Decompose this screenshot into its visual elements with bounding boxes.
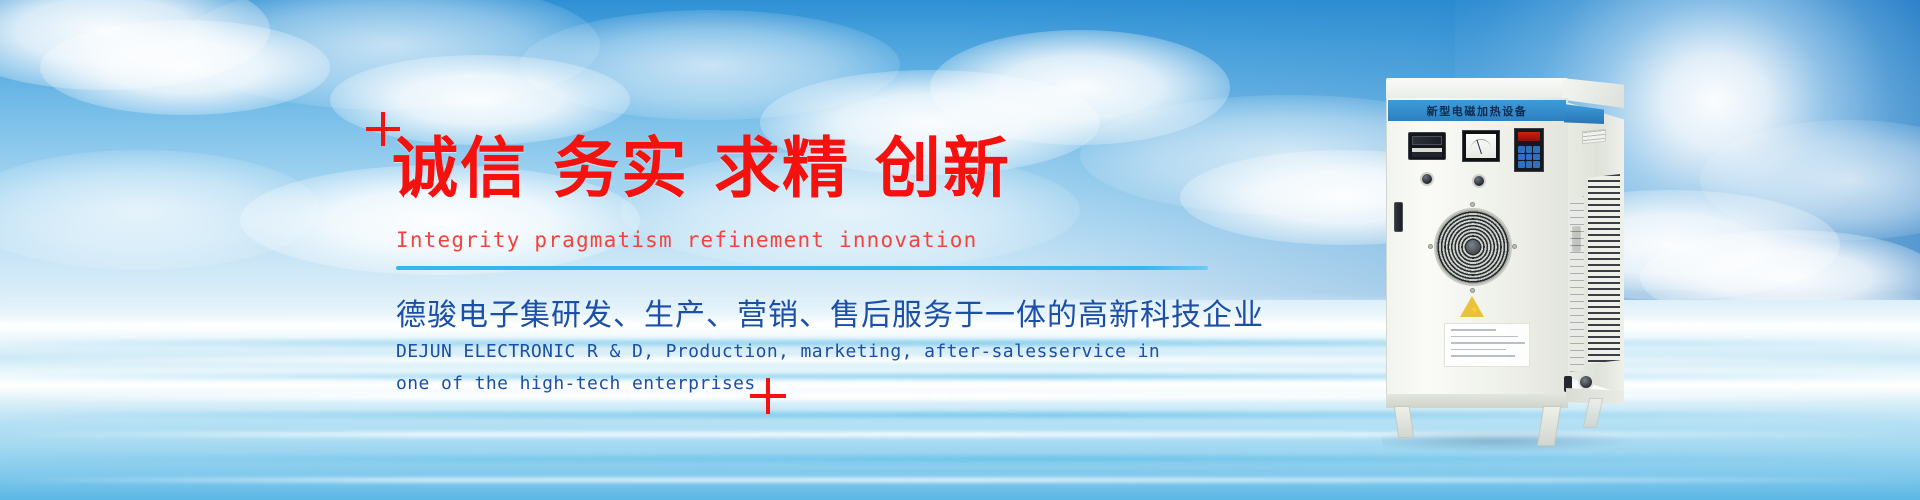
fan-grille-icon <box>1434 208 1512 286</box>
product-photo-heating-equipment: 新型电磁加热设备 <box>1372 78 1642 460</box>
controller-buttons <box>1412 152 1442 157</box>
copy-block: 诚信 务实 求精 创新 Integrity pragmatism refinem… <box>0 0 1100 500</box>
control-knob[interactable] <box>1472 174 1486 188</box>
product-label-side <box>1564 104 1604 124</box>
digital-display <box>1412 136 1442 145</box>
headline-chinese: 诚信 务实 求精 创新 <box>392 115 1011 211</box>
cabinet-top <box>1386 78 1568 100</box>
spec-line <box>1451 349 1506 351</box>
keypad-key[interactable] <box>1533 146 1540 153</box>
keypad-buttons[interactable] <box>1518 146 1540 168</box>
promotional-banner: 诚信 务实 求精 创新 Integrity pragmatism refinem… <box>0 0 1920 500</box>
cabinet-base <box>1386 394 1568 408</box>
description-english: DEJUN ELECTRONIC R & D, Production, mark… <box>396 336 1186 400</box>
cabinet-top-side <box>1562 78 1624 108</box>
keypad-led-display <box>1518 132 1540 141</box>
fan-hub <box>1466 240 1480 254</box>
spec-line <box>1451 329 1496 331</box>
side-vents-secondary <box>1570 196 1584 372</box>
power-connector <box>1578 374 1594 390</box>
spec-line <box>1451 355 1515 357</box>
description-chinese: 德骏电子集研发、生产、营销、售后服务于一体的高新科技企业 <box>396 290 1264 334</box>
fan-screw <box>1470 288 1475 293</box>
side-vents <box>1588 174 1620 364</box>
headline-english: Integrity pragmatism refinement innovati… <box>396 228 977 252</box>
plus-decoration-icon <box>750 378 786 414</box>
keypad-key[interactable] <box>1526 154 1533 161</box>
keypad-key[interactable] <box>1526 161 1533 168</box>
keypad-controller[interactable] <box>1514 128 1544 172</box>
keypad-key[interactable] <box>1518 161 1525 168</box>
door-handle[interactable] <box>1394 202 1403 232</box>
spec-label <box>1444 323 1530 367</box>
support-leg <box>1394 406 1414 438</box>
fan-screw <box>1512 244 1517 249</box>
fan-screw <box>1428 244 1433 249</box>
control-knob[interactable] <box>1420 172 1434 186</box>
keypad-key[interactable] <box>1518 146 1525 153</box>
keypad-key[interactable] <box>1518 154 1525 161</box>
warning-bolt-icon: ⚡ <box>1469 306 1480 315</box>
analog-meter <box>1462 130 1500 162</box>
keypad-key[interactable] <box>1526 146 1533 153</box>
keypad-key[interactable] <box>1533 154 1540 161</box>
spec-line <box>1451 342 1525 344</box>
meter-face <box>1466 134 1496 158</box>
meter-scale <box>1471 139 1491 148</box>
spec-line <box>1451 336 1518 338</box>
divider-line <box>396 266 1208 270</box>
digital-controller[interactable] <box>1408 132 1446 160</box>
fan-screw <box>1470 202 1475 207</box>
keypad-key[interactable] <box>1533 161 1540 168</box>
top-vent-badge <box>1582 129 1606 145</box>
product-shadow <box>1382 430 1632 452</box>
product-label-banner: 新型电磁加热设备 <box>1388 100 1566 121</box>
